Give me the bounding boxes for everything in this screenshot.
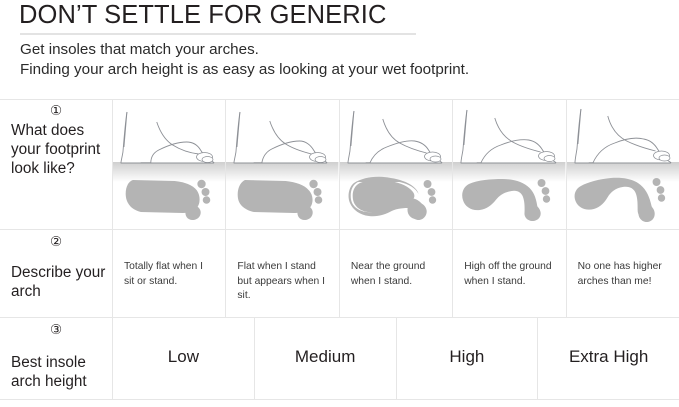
footprint-cell-low bbox=[226, 100, 339, 229]
foot-illustration-extra-high bbox=[567, 100, 679, 229]
table-row-insole: ③ Best insole arch height Low Medium Hig… bbox=[0, 317, 679, 399]
step-number-1: ① bbox=[0, 104, 112, 119]
footprint-cell-extra-high bbox=[567, 100, 679, 229]
row-label-insole: ③ Best insole arch height bbox=[0, 318, 113, 399]
row-label-describe: ② Describe your arch bbox=[0, 230, 113, 317]
subtitle-line-2: Finding your arch height is as easy as l… bbox=[20, 60, 679, 80]
arch-height-guide: DON’T SETTLE FOR GENERIC Get insoles tha… bbox=[0, 0, 679, 407]
title-divider bbox=[20, 33, 416, 35]
describe-text-medium: Near the ground when I stand. bbox=[340, 230, 452, 289]
insole-cell-high: High bbox=[397, 318, 539, 399]
header: DON’T SETTLE FOR GENERIC Get insoles tha… bbox=[0, 0, 679, 80]
row-label-text-2: Describe your arch bbox=[0, 252, 112, 302]
insole-cell-medium: Medium bbox=[255, 318, 397, 399]
row-label-text-3: Best insole arch height bbox=[0, 340, 112, 392]
insole-cell-low: Low bbox=[113, 318, 255, 399]
insole-height-low: Low bbox=[113, 318, 254, 367]
insole-height-extra-high: Extra High bbox=[538, 318, 679, 367]
foot-illustration-medium bbox=[340, 100, 452, 229]
describe-cell-low: Flat when I stand but appears when I sit… bbox=[226, 230, 339, 317]
footprint-cell-flat bbox=[113, 100, 226, 229]
arch-comparison-table: ① What does your footprint look like? bbox=[0, 99, 679, 400]
row-label-text-1: What does your footprint look like? bbox=[0, 121, 112, 179]
subtitle-line-1: Get insoles that match your arches. bbox=[20, 40, 679, 60]
insole-cell-extra-high: Extra High bbox=[538, 318, 679, 399]
foot-illustration-high bbox=[453, 100, 565, 229]
insole-height-high: High bbox=[397, 318, 538, 367]
describe-cell-flat: Totally flat when I sit or stand. bbox=[113, 230, 226, 317]
foot-illustration-low bbox=[226, 100, 338, 229]
describe-text-extra-high: No one has higher arches than me! bbox=[567, 230, 679, 289]
describe-text-low: Flat when I stand but appears when I sit… bbox=[226, 230, 338, 304]
table-row-footprint: ① What does your footprint look like? bbox=[0, 100, 679, 229]
page-title: DON’T SETTLE FOR GENERIC bbox=[19, 2, 679, 29]
footprint-cell-high bbox=[453, 100, 566, 229]
describe-cell-high: High off the ground when I stand. bbox=[453, 230, 566, 317]
table-row-describe: ② Describe your arch Totally flat when I… bbox=[0, 229, 679, 317]
foot-illustration-flat bbox=[113, 100, 225, 229]
describe-cell-extra-high: No one has higher arches than me! bbox=[567, 230, 679, 317]
step-number-2: ② bbox=[0, 235, 112, 250]
describe-text-high: High off the ground when I stand. bbox=[453, 230, 565, 289]
step-number-3: ③ bbox=[0, 323, 112, 338]
describe-text-flat: Totally flat when I sit or stand. bbox=[113, 230, 225, 289]
footprint-cell-medium bbox=[340, 100, 453, 229]
describe-cell-medium: Near the ground when I stand. bbox=[340, 230, 453, 317]
row-label-footprint: ① What does your footprint look like? bbox=[0, 100, 113, 229]
insole-height-medium: Medium bbox=[255, 318, 396, 367]
